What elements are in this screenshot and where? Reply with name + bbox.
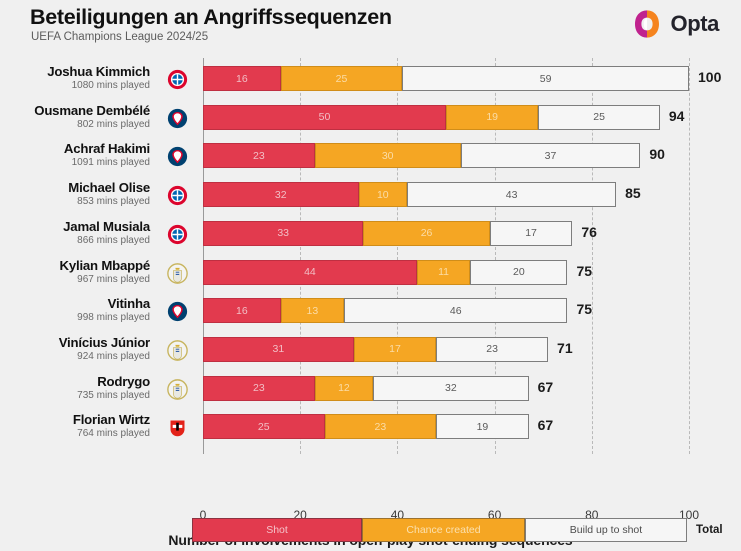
- row-total: 67: [538, 375, 554, 400]
- club-badge-real-icon: [167, 340, 188, 361]
- stacked-bar: 231232: [203, 376, 529, 401]
- segment-build-up-to-shot[interactable]: 46: [344, 298, 568, 323]
- player-name: Kylian Mbappé: [0, 258, 150, 273]
- player-label: Kylian Mbappé967 mins played: [0, 256, 150, 294]
- segment-chance-created[interactable]: 19: [446, 105, 538, 130]
- segment-shot[interactable]: 44: [203, 260, 417, 285]
- bar-row: Achraf Hakimi1091 mins played23303790: [0, 139, 741, 177]
- bar-row: Michael Olise853 mins played32104385: [0, 178, 741, 216]
- player-minutes: 1080 mins played: [0, 80, 150, 91]
- player-name: Ousmane Dembélé: [0, 103, 150, 118]
- player-label: Joshua Kimmich1080 mins played: [0, 62, 150, 100]
- segment-shot[interactable]: 16: [203, 298, 281, 323]
- bar-row: Jamal Musiala866 mins played33261776: [0, 217, 741, 255]
- club-badge-bayern-icon: [167, 69, 188, 90]
- player-name: Vinícius Júnior: [0, 335, 150, 350]
- player-minutes: 853 mins played: [0, 196, 150, 207]
- legend-item-shot[interactable]: Shot: [192, 518, 362, 542]
- bar-row: Rodrygo735 mins played23123267: [0, 372, 741, 410]
- segment-chance-created[interactable]: 25: [281, 66, 403, 91]
- stacked-bar: 441120: [203, 260, 568, 285]
- row-total: 85: [625, 181, 641, 206]
- bar-row: Vinícius Júnior924 mins played31172371: [0, 333, 741, 371]
- player-minutes: 802 mins played: [0, 119, 150, 130]
- player-name: Jamal Musiala: [0, 219, 150, 234]
- stacked-bar: 161346: [203, 298, 568, 323]
- player-name: Michael Olise: [0, 180, 150, 195]
- player-minutes: 924 mins played: [0, 351, 150, 362]
- row-total: 76: [581, 220, 597, 245]
- segment-build-up-to-shot[interactable]: 19: [436, 414, 528, 439]
- bar-row: Ousmane Dembélé802 mins played50192594: [0, 101, 741, 139]
- player-minutes: 1091 mins played: [0, 157, 150, 168]
- player-label: Vinícius Júnior924 mins played: [0, 333, 150, 371]
- bar-row: Florian Wirtz764 mins played25231967: [0, 410, 741, 448]
- stacked-bar: 321043: [203, 182, 616, 207]
- plot-area: Joshua Kimmich1080 mins played162559100O…: [0, 56, 741, 460]
- segment-shot[interactable]: 33: [203, 221, 363, 246]
- segment-build-up-to-shot[interactable]: 25: [538, 105, 660, 130]
- chart-canvas: Beteiligungen an Angriffssequenzen UEFA …: [0, 0, 741, 551]
- stacked-bar: 311723: [203, 337, 548, 362]
- player-minutes: 764 mins played: [0, 428, 150, 439]
- opta-mark-icon: [631, 8, 663, 40]
- stacked-bar: 501925: [203, 105, 660, 130]
- row-total: 71: [557, 336, 573, 361]
- stacked-bar: 233037: [203, 143, 640, 168]
- club-badge-real-icon: [167, 263, 188, 284]
- player-label: Vitinha998 mins played: [0, 294, 150, 332]
- stacked-bar: 332617: [203, 221, 572, 246]
- club-badge-psg-icon: [167, 146, 188, 167]
- chart-legend: Shot Chance created Build up to shot Tot…: [192, 518, 723, 542]
- segment-chance-created[interactable]: 17: [354, 337, 437, 362]
- segment-shot[interactable]: 32: [203, 182, 359, 207]
- page-title: Beteiligungen an Angriffssequenzen: [30, 5, 392, 30]
- segment-chance-created[interactable]: 23: [325, 414, 437, 439]
- segment-chance-created[interactable]: 26: [363, 221, 489, 246]
- segment-chance-created[interactable]: 13: [281, 298, 344, 323]
- segment-build-up-to-shot[interactable]: 32: [373, 376, 529, 401]
- segment-shot[interactable]: 50: [203, 105, 446, 130]
- page-subtitle: UEFA Champions League 2024/25: [31, 31, 208, 43]
- chart-header: Beteiligungen an Angriffssequenzen UEFA …: [0, 0, 741, 56]
- row-total: 67: [538, 413, 554, 438]
- bar-row: Joshua Kimmich1080 mins played162559100: [0, 62, 741, 100]
- segment-shot[interactable]: 25: [203, 414, 325, 439]
- club-badge-psg-icon: [167, 108, 188, 129]
- player-label: Florian Wirtz764 mins played: [0, 410, 150, 448]
- segment-chance-created[interactable]: 12: [315, 376, 373, 401]
- segment-build-up-to-shot[interactable]: 43: [407, 182, 616, 207]
- segment-chance-created[interactable]: 11: [417, 260, 470, 285]
- player-name: Vitinha: [0, 296, 150, 311]
- segment-chance-created[interactable]: 10: [359, 182, 408, 207]
- legend-total-label: Total: [696, 524, 723, 536]
- club-badge-bayern-icon: [167, 224, 188, 245]
- segment-build-up-to-shot[interactable]: 59: [402, 66, 689, 91]
- club-badge-bayern-icon: [167, 185, 188, 206]
- row-total: 75: [577, 297, 593, 322]
- segment-build-up-to-shot[interactable]: 17: [490, 221, 573, 246]
- player-label: Rodrygo735 mins played: [0, 372, 150, 410]
- legend-item-chance-created[interactable]: Chance created: [362, 518, 525, 542]
- player-name: Florian Wirtz: [0, 412, 150, 427]
- segment-build-up-to-shot[interactable]: 37: [461, 143, 641, 168]
- opta-logo: Opta: [631, 8, 719, 40]
- player-minutes: 735 mins played: [0, 390, 150, 401]
- legend-item-build-up-to-shot[interactable]: Build up to shot: [525, 518, 687, 542]
- row-total: 94: [669, 104, 685, 129]
- player-minutes: 866 mins played: [0, 235, 150, 246]
- club-badge-psg-icon: [167, 301, 188, 322]
- segment-build-up-to-shot[interactable]: 23: [436, 337, 548, 362]
- player-label: Achraf Hakimi1091 mins played: [0, 139, 150, 177]
- bar-row: Kylian Mbappé967 mins played44112075: [0, 256, 741, 294]
- player-name: Rodrygo: [0, 374, 150, 389]
- player-name: Achraf Hakimi: [0, 141, 150, 156]
- player-label: Jamal Musiala866 mins played: [0, 217, 150, 255]
- segment-chance-created[interactable]: 30: [315, 143, 461, 168]
- club-badge-real-icon: [167, 379, 188, 400]
- row-total: 100: [698, 65, 721, 90]
- segment-build-up-to-shot[interactable]: 20: [470, 260, 567, 285]
- segment-shot[interactable]: 23: [203, 143, 315, 168]
- player-minutes: 998 mins played: [0, 312, 150, 323]
- row-total: 75: [577, 259, 593, 284]
- bar-row: Vitinha998 mins played16134675: [0, 294, 741, 332]
- stacked-bar: 162559: [203, 66, 689, 91]
- segment-shot[interactable]: 23: [203, 376, 315, 401]
- club-badge-leverkusen-icon: [167, 417, 188, 438]
- player-label: Ousmane Dembélé802 mins played: [0, 101, 150, 139]
- player-minutes: 967 mins played: [0, 274, 150, 285]
- segment-shot[interactable]: 31: [203, 337, 354, 362]
- opta-wordmark: Opta: [670, 11, 719, 37]
- row-total: 90: [649, 142, 665, 167]
- player-label: Michael Olise853 mins played: [0, 178, 150, 216]
- stacked-bar: 252319: [203, 414, 529, 439]
- player-name: Joshua Kimmich: [0, 64, 150, 79]
- segment-shot[interactable]: 16: [203, 66, 281, 91]
